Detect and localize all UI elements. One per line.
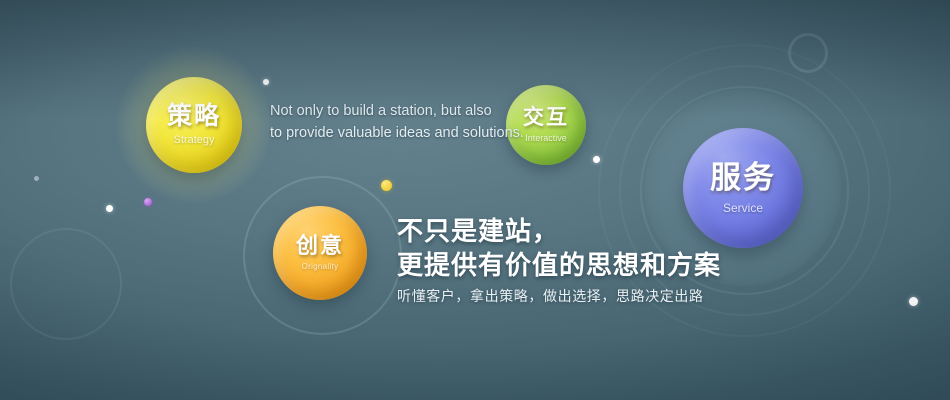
page-title: 不只是建站， 更提供有价值的思想和方案 <box>397 214 797 283</box>
dot-white-mid <box>593 156 600 163</box>
dot-white-lower-left <box>106 205 113 212</box>
strategy-label-cn: 策略 <box>167 104 221 129</box>
service-label-en: Service <box>723 202 763 214</box>
dot-purple-left <box>144 198 152 206</box>
dot-pale-left <box>34 176 39 181</box>
dot-yellow-center <box>381 180 392 191</box>
headline-line2: 更提供有价值的思想和方案 <box>397 248 797 282</box>
hero-banner: 策略 Strategy 交互 Interactive 创意 Orignality… <box>0 0 950 400</box>
english-tagline-line1: Not only to build a station, but also <box>270 100 510 122</box>
headline-line1: 不只是建站， <box>397 214 797 248</box>
english-tagline: Not only to build a station, but also to… <box>270 100 510 145</box>
dot-white-right <box>909 297 918 306</box>
service-label-cn: 服务 <box>710 162 776 193</box>
english-tagline-line2: to provide valuable ideas and solutions. <box>270 122 510 144</box>
strategy-sphere[interactable]: 策略 Strategy <box>146 77 242 173</box>
interactive-label-cn: 交互 <box>523 107 569 128</box>
interactive-label-en: Interactive <box>525 134 567 143</box>
originality-sphere[interactable]: 创意 Orignality <box>273 206 367 300</box>
originality-label-en: Orignality <box>302 263 339 271</box>
ring-topright-decorative <box>788 33 828 73</box>
page-subtitle: 听懂客户，拿出策略，做出选择，思路决定出路 <box>397 286 817 306</box>
vignette-overlay <box>0 0 950 400</box>
dot-white-upper-left <box>263 79 269 85</box>
ring-left-decorative <box>10 228 122 340</box>
strategy-label-en: Strategy <box>174 135 215 146</box>
originality-label-cn: 创意 <box>296 235 344 257</box>
